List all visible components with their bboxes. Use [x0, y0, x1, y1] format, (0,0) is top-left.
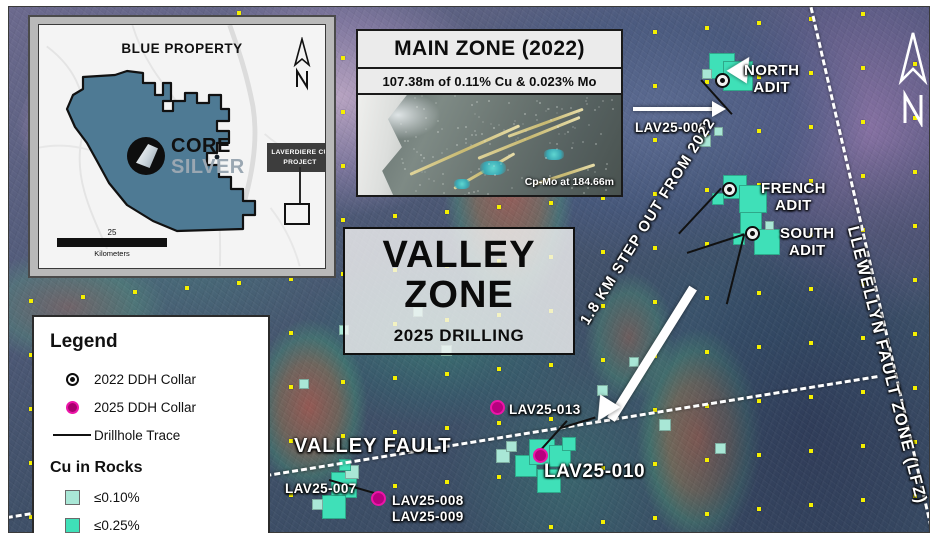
inset-north-arrow-icon [291, 37, 313, 91]
survey-grid-dot [341, 218, 345, 222]
lav006-arrow-head [712, 101, 726, 117]
photo-mineral-speck [588, 124, 590, 126]
survey-grid-dot [757, 507, 761, 511]
photo-mineral-speck [611, 99, 613, 101]
cu-sample-square-low [629, 357, 639, 367]
survey-grid-dot [445, 426, 449, 430]
cu-swatch-low-icon [50, 490, 94, 505]
scalebar-unit: Kilometers [57, 249, 167, 258]
survey-grid-dot [861, 444, 865, 448]
collar-2025-lav25-008-009[interactable] [371, 491, 386, 506]
label-south-adit: SOUTH ADIT [780, 226, 835, 260]
survey-grid-dot [809, 449, 813, 453]
survey-grid-dot [653, 84, 657, 88]
cu-sample-square-low [765, 221, 774, 230]
figure-root: NORTH ADIT FRENCH ADIT SOUTH ADIT LAV25-… [0, 0, 950, 533]
photo-mineral-speck [454, 95, 456, 97]
photo-mineral-speck [404, 140, 406, 142]
label-lav25-010: LAV25-010 [544, 461, 645, 482]
cu-sample-square-low [702, 69, 712, 79]
photo-mineral-speck [407, 140, 409, 142]
survey-grid-dot [393, 484, 397, 488]
photo-mineral-speck [602, 100, 604, 102]
lav006-arrow-shaft [633, 107, 715, 111]
survey-grid-dot [757, 21, 761, 25]
photo-mineral-speck [468, 192, 470, 194]
photo-mineral-speck [414, 97, 416, 99]
photo-mineral-speck [425, 117, 427, 119]
photo-mineral-speck [489, 143, 491, 145]
photo-mineral-speck [587, 169, 589, 171]
photo-mineral-speck [424, 171, 426, 173]
photo-mineral-speck [558, 133, 560, 135]
photo-mineral-speck [536, 100, 538, 102]
project-extent-box [284, 203, 310, 225]
photo-mineral-speck [561, 108, 563, 110]
photo-mineral-speck [490, 123, 492, 125]
survey-grid-dot [289, 439, 293, 443]
photo-mineral-speck [583, 192, 585, 194]
legend-item-cu-025: ≤0.25% [50, 513, 252, 533]
label-lav25-009: LAV25-009 [392, 509, 464, 524]
photo-mineral-speck [421, 95, 423, 97]
legend-label-2022-collar: 2022 DDH Collar [94, 372, 196, 387]
survey-grid-dot [289, 385, 293, 389]
photo-mineral-speck [476, 101, 478, 103]
survey-grid-dot [705, 512, 709, 516]
survey-grid-dot [393, 430, 397, 434]
photo-mineral-speck [583, 184, 585, 186]
survey-grid-dot [29, 299, 33, 303]
trace-line-icon [50, 434, 94, 436]
survey-grid-dot [809, 341, 813, 345]
legend-item-drillhole-trace: Drillhole Trace [50, 423, 252, 447]
photo-mineral-speck [586, 103, 588, 105]
scalebar-bar [57, 238, 167, 247]
survey-grid-dot [289, 331, 293, 335]
photo-mineral-speck [556, 143, 558, 145]
cu-sample-square-low [715, 443, 726, 454]
photo-mineral-speck [437, 131, 439, 133]
survey-grid-dot [705, 26, 709, 30]
photo-mineral-speck [464, 194, 466, 195]
photo-mineral-speck [465, 126, 467, 128]
survey-grid-dot [653, 462, 657, 466]
photo-mineral-speck [571, 147, 573, 149]
photo-mineral-speck [539, 102, 541, 104]
photo-mineral-speck [508, 102, 510, 104]
photo-mineral-speck [507, 169, 509, 171]
north-arrow-icon [895, 29, 930, 127]
photo-mineral-speck [446, 148, 448, 150]
legend-panel: Legend 2022 DDH Collar 2025 DDH Collar D… [32, 315, 270, 533]
photo-mineral-speck [508, 154, 510, 156]
label-north-adit: NORTH ADIT [744, 63, 799, 97]
survey-grid-dot [185, 286, 189, 290]
photo-mineral-speck [606, 163, 608, 165]
photo-mineral-speck [513, 123, 515, 125]
photo-mineral-speck [484, 174, 486, 176]
photo-mineral-speck [428, 178, 430, 180]
photo-mineral-speck [442, 173, 444, 175]
photo-mineral-speck [402, 162, 404, 164]
valley-zone-line2: ZONE [404, 274, 514, 318]
photo-mineral-speck [421, 160, 423, 162]
survey-grid-dot [861, 336, 865, 340]
photo-mineral-speck [478, 116, 480, 118]
core-logo-mark [127, 137, 165, 175]
photo-mineral-speck [594, 171, 596, 173]
photo-vein-3 [507, 108, 583, 138]
photo-mineral-speck [474, 130, 476, 132]
photo-mineral-speck [443, 192, 445, 194]
photo-mineral-speck [598, 106, 600, 108]
cu-sample-square-low [659, 419, 671, 431]
survey-grid-dot [497, 367, 501, 371]
cu-sample-square-high [322, 495, 346, 519]
survey-grid-dot [705, 188, 709, 192]
label-lav25-007: LAV25-007 [285, 481, 357, 496]
survey-grid-dot [861, 66, 865, 70]
photo-rock-edge [358, 95, 410, 195]
photo-mineral-speck [442, 183, 444, 185]
cu-sample-square-low [299, 379, 309, 389]
survey-grid-dot [549, 525, 553, 529]
label-lav25-013: LAV25-013 [509, 402, 581, 417]
photo-mineral-speck [415, 136, 417, 138]
photo-chalcopyrite-2 [454, 179, 470, 189]
label-french-adit: FRENCH ADIT [761, 181, 826, 215]
photo-mineral-speck [481, 133, 483, 135]
survey-grid-dot [705, 458, 709, 462]
legend-label-2025-collar: 2025 DDH Collar [94, 400, 196, 415]
photo-mineral-speck [471, 134, 473, 136]
inset-title: BLUE PROPERTY [39, 41, 325, 56]
survey-grid-dot [861, 12, 865, 16]
survey-grid-dot [601, 358, 605, 362]
label-valley-fault: VALLEY FAULT [294, 435, 452, 457]
photo-mineral-speck [545, 110, 547, 112]
legend-label-drillhole-trace: Drillhole Trace [94, 428, 180, 443]
main-zone-title: MAIN ZONE (2022) [358, 31, 621, 69]
photo-mineral-speck [457, 127, 459, 129]
survey-grid-dot [757, 453, 761, 457]
photo-mineral-speck [549, 142, 551, 144]
survey-grid-dot [497, 205, 501, 209]
valley-zone-title-plate: VALLEY ZONE 2025 DRILLING [343, 227, 575, 355]
photo-mineral-speck [571, 187, 573, 189]
valley-zone-line1: VALLEY [382, 236, 535, 274]
survey-grid-dot [81, 295, 85, 299]
photo-mineral-speck [441, 152, 443, 154]
photo-mineral-speck [416, 151, 418, 153]
photo-mineral-speck [585, 100, 587, 102]
legend-item-cu-010: ≤0.10% [50, 485, 252, 509]
survey-grid-dot [445, 372, 449, 376]
survey-grid-dot [549, 363, 553, 367]
survey-grid-dot [757, 399, 761, 403]
cu-swatch-high-icon [50, 518, 94, 533]
photo-mineral-speck [524, 113, 526, 115]
core-photo-caption: Cp-Mo at 184.66m [525, 176, 614, 189]
survey-grid-dot [341, 164, 345, 168]
survey-grid-dot [653, 138, 657, 142]
survey-grid-dot [341, 380, 345, 384]
photo-mineral-speck [433, 180, 435, 182]
survey-grid-dot [757, 291, 761, 295]
photo-mineral-speck [521, 177, 523, 179]
survey-grid-dot [757, 345, 761, 349]
survey-grid-dot [861, 174, 865, 178]
photo-mineral-speck [473, 191, 475, 193]
photo-chalcopyrite-3 [544, 149, 564, 160]
photo-mineral-speck [594, 109, 596, 111]
photo-mineral-speck [572, 126, 574, 128]
callout-leader-line [299, 167, 301, 205]
survey-grid-dot [445, 480, 449, 484]
survey-grid-dot [653, 246, 657, 250]
survey-grid-dot [601, 250, 605, 254]
logo-text-core: CORE [171, 135, 231, 158]
survey-grid-dot [549, 201, 553, 205]
photo-mineral-speck [465, 138, 467, 140]
photo-mineral-speck [456, 144, 458, 146]
photo-mineral-speck [548, 108, 550, 110]
photo-mineral-speck [405, 131, 407, 133]
survey-grid-dot [497, 475, 501, 479]
survey-grid-dot [653, 30, 657, 34]
photo-mineral-speck [419, 184, 421, 186]
legend-item-2025-collar: 2025 DDH Collar [50, 395, 252, 419]
photo-mineral-speck [482, 121, 484, 123]
collar-2022-french-adit[interactable] [722, 182, 737, 197]
scalebar-value: 25 [57, 228, 167, 237]
survey-grid-dot [237, 281, 241, 285]
survey-grid-dot [809, 503, 813, 507]
photo-mineral-speck [421, 171, 423, 173]
photo-mineral-speck [578, 116, 580, 118]
core-silver-logo: CORE SILVER [127, 133, 267, 181]
photo-mineral-speck [477, 190, 479, 192]
photo-mineral-speck [567, 131, 569, 133]
survey-grid-dot [133, 290, 137, 294]
photo-mineral-speck [600, 133, 602, 135]
photo-mineral-speck [582, 141, 584, 143]
photo-mineral-speck [404, 168, 406, 170]
photo-mineral-speck [471, 104, 473, 106]
photo-mineral-speck [574, 127, 576, 129]
photo-mineral-speck [605, 168, 607, 170]
survey-grid-dot [861, 120, 865, 124]
photo-mineral-speck [612, 108, 614, 110]
label-lav25-008: LAV25-008 [392, 493, 464, 508]
survey-grid-dot [341, 56, 345, 60]
main-zone-subtitle: 107.38m of 0.11% Cu & 0.023% Mo [358, 69, 621, 95]
photo-mineral-speck [595, 143, 597, 145]
photo-mineral-speck [586, 97, 588, 99]
photo-mineral-speck [494, 174, 496, 176]
collar-2022-icon [50, 373, 94, 386]
photo-mineral-speck [475, 134, 477, 136]
photo-chalcopyrite-1 [480, 161, 506, 175]
photo-mineral-speck [400, 123, 402, 125]
legend-title: Legend [50, 331, 252, 353]
collar-2025-lav25-013[interactable] [490, 400, 505, 415]
survey-grid-dot [393, 376, 397, 380]
cu-sample-square-low [506, 441, 517, 452]
photo-mineral-speck [493, 127, 495, 129]
survey-grid-dot [549, 417, 553, 421]
photo-mineral-speck [423, 108, 425, 110]
photo-mineral-speck [493, 165, 495, 167]
laverdiere-project-callout: LAVERDIERE CU PROJECT [267, 143, 326, 172]
survey-grid-dot [861, 498, 865, 502]
survey-grid-dot [809, 395, 813, 399]
photo-mineral-speck [488, 100, 490, 102]
survey-grid-dot [913, 170, 917, 174]
photo-mineral-speck [425, 128, 427, 130]
photo-mineral-speck [474, 113, 476, 115]
photo-mineral-speck [437, 120, 439, 122]
collar-2022-north-adit[interactable] [715, 73, 730, 88]
photo-mineral-speck [549, 175, 551, 177]
core-sample-photo: Cp-Mo at 184.66m [358, 95, 621, 195]
photo-mineral-speck [416, 106, 418, 108]
valley-zone-line3: 2025 DRILLING [394, 326, 525, 346]
photo-mineral-speck [498, 124, 500, 126]
survey-grid-dot [601, 520, 605, 524]
photo-mineral-speck [605, 189, 607, 191]
photo-mineral-speck [572, 142, 574, 144]
photo-mineral-speck [487, 193, 489, 195]
inset-scalebar: 25 Kilometers [57, 228, 167, 258]
legend-label-cu-010: ≤0.10% [94, 490, 140, 505]
photo-mineral-speck [601, 179, 603, 181]
photo-mineral-speck [556, 106, 558, 108]
photo-mineral-speck [564, 133, 566, 135]
survey-grid-dot [653, 516, 657, 520]
legend-subheading-cu-in-rocks: Cu in Rocks [50, 459, 252, 477]
photo-mineral-speck [536, 119, 538, 121]
cu-sample-square-low [312, 499, 323, 510]
inset-blue-property[interactable]: BLUE PROPERTY CORE SILVER LAVERDIERE CU … [28, 15, 336, 278]
survey-grid-dot [913, 332, 917, 336]
survey-grid-dot [809, 125, 813, 129]
photo-mineral-speck [522, 123, 524, 125]
survey-grid-dot [705, 350, 709, 354]
photo-mineral-speck [525, 130, 527, 132]
photo-mineral-speck [432, 156, 434, 158]
photo-mineral-speck [441, 128, 443, 130]
legend-item-2022-collar: 2022 DDH Collar [50, 367, 252, 391]
inset-inner-map: BLUE PROPERTY CORE SILVER LAVERDIERE CU … [38, 24, 326, 269]
survey-grid-dot [653, 300, 657, 304]
survey-grid-dot [445, 210, 449, 214]
survey-grid-dot [913, 224, 917, 228]
photo-mineral-speck [556, 112, 558, 114]
collar-2025-icon [50, 401, 94, 414]
cu-sample-square-high [562, 437, 576, 451]
photo-mineral-speck [465, 142, 467, 144]
photo-mineral-speck [470, 171, 472, 173]
survey-grid-dot [393, 214, 397, 218]
survey-grid-dot [705, 296, 709, 300]
survey-grid-dot [809, 71, 813, 75]
photo-mineral-speck [413, 148, 415, 150]
survey-grid-dot [341, 110, 345, 114]
photo-mineral-speck [401, 158, 403, 160]
photo-mineral-speck [415, 190, 417, 192]
photo-mineral-speck [535, 114, 537, 116]
photo-mineral-speck [423, 157, 425, 159]
photo-mineral-speck [511, 187, 513, 189]
survey-grid-dot [861, 390, 865, 394]
logo-text-silver: SILVER [171, 156, 245, 179]
collar-2022-south-adit[interactable] [745, 226, 760, 241]
survey-grid-dot [497, 421, 501, 425]
photo-mineral-speck [578, 112, 580, 114]
photo-mineral-speck [435, 102, 437, 104]
photo-mineral-speck [570, 107, 572, 109]
survey-grid-dot [757, 129, 761, 133]
main-zone-callout[interactable]: MAIN ZONE (2022) 107.38m of 0.11% Cu & 0… [356, 29, 623, 197]
survey-grid-dot [913, 278, 917, 282]
photo-mineral-speck [420, 154, 422, 156]
survey-grid-dot [913, 386, 917, 390]
survey-grid-dot [809, 287, 813, 291]
legend-label-cu-025: ≤0.25% [94, 518, 140, 533]
